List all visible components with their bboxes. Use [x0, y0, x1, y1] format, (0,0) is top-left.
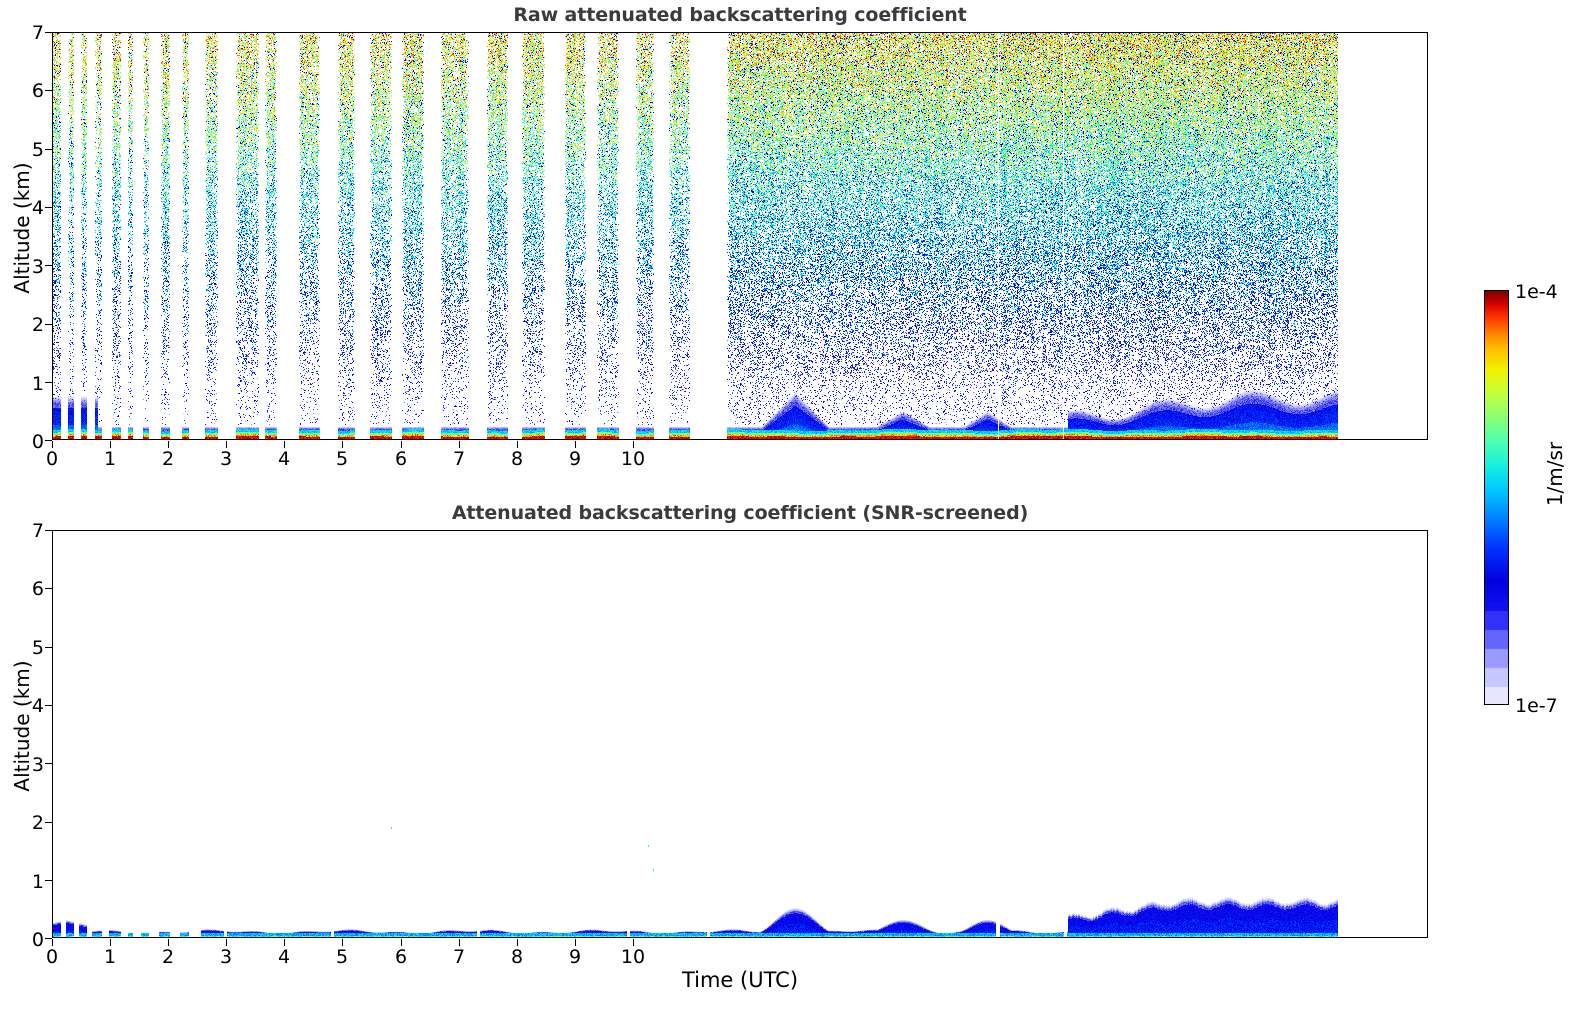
xtick-label: 7: [439, 450, 479, 469]
xtick-label: 3: [206, 948, 246, 967]
xtick-label: 5: [322, 450, 362, 469]
ytick-label: 7: [0, 24, 44, 43]
plot-area-screened: [52, 530, 1428, 938]
xtick-label: 5: [322, 948, 362, 967]
xtick-label: 2: [148, 450, 188, 469]
xtick-label: 9: [555, 948, 595, 967]
xtick-label: 7: [439, 948, 479, 967]
xtick-mark: [401, 939, 402, 946]
xtick-mark: [52, 939, 53, 946]
xtick-mark: [342, 441, 343, 448]
colorbar-tick-label-min: 1e-7: [1515, 697, 1558, 716]
xtick-mark: [633, 939, 634, 946]
xtick-label: 1: [90, 450, 130, 469]
xtick-mark: [575, 939, 576, 946]
ylabel-raw: Altitude (km): [10, 128, 34, 328]
ytick-mark: [45, 265, 52, 266]
ytick-mark: [45, 705, 52, 706]
ytick-mark: [45, 822, 52, 823]
xtick-label: 6: [381, 948, 421, 967]
colorbar: [1484, 290, 1509, 705]
xtick-label: 8: [497, 948, 537, 967]
xtick-label: 4: [264, 450, 304, 469]
ytick-label: 6: [0, 82, 44, 101]
xtick-mark: [342, 939, 343, 946]
xtick-label: 8: [497, 450, 537, 469]
ytick-mark: [45, 207, 52, 208]
figure-canvas: Raw attenuated backscattering coefficien…: [0, 0, 1595, 1020]
ytick-mark: [45, 382, 52, 383]
xtick-mark: [401, 441, 402, 448]
ytick-mark: [45, 880, 52, 881]
xtick-label: 0: [32, 450, 72, 469]
ylabel-screened: Altitude (km): [10, 626, 34, 826]
panel-title-raw: Raw attenuated backscattering coefficien…: [52, 4, 1428, 26]
ytick-label: 6: [0, 580, 44, 599]
xlabel-time: Time (UTC): [630, 968, 850, 992]
xtick-label: 10: [610, 450, 656, 469]
plot-area-raw: [52, 32, 1428, 440]
ytick-label: 7: [0, 522, 44, 541]
ytick-mark: [45, 149, 52, 150]
panel-title-screened: Attenuated backscattering coefficient (S…: [52, 502, 1428, 524]
xtick-label: 2: [148, 948, 188, 967]
xtick-mark: [168, 441, 169, 448]
ytick-mark: [45, 32, 52, 33]
xtick-mark: [226, 939, 227, 946]
ytick-label: 1: [0, 873, 44, 892]
xtick-mark: [284, 441, 285, 448]
ytick-mark: [45, 440, 52, 441]
xtick-mark: [459, 939, 460, 946]
ytick-mark: [45, 938, 52, 939]
ytick-mark: [45, 90, 52, 91]
xtick-mark: [226, 441, 227, 448]
xtick-mark: [517, 441, 518, 448]
xtick-mark: [517, 939, 518, 946]
xtick-label: 6: [381, 450, 421, 469]
ytick-mark: [45, 588, 52, 589]
xtick-mark: [52, 441, 53, 448]
xtick-label: 4: [264, 948, 304, 967]
ytick-mark: [45, 324, 52, 325]
ytick-mark: [45, 763, 52, 764]
xtick-mark: [110, 441, 111, 448]
xtick-mark: [633, 441, 634, 448]
xtick-label: 1: [90, 948, 130, 967]
ytick-mark: [45, 530, 52, 531]
ytick-label: 1: [0, 375, 44, 394]
xtick-mark: [168, 939, 169, 946]
xtick-label: 9: [555, 450, 595, 469]
ytick-mark: [45, 647, 52, 648]
colorbar-tick-label-max: 1e-4: [1515, 283, 1558, 302]
xtick-mark: [575, 441, 576, 448]
colorbar-axis-label: 1/m/sr: [1543, 409, 1567, 539]
xtick-label: 0: [32, 948, 72, 967]
xtick-label: 10: [610, 948, 656, 967]
xtick-mark: [110, 939, 111, 946]
xtick-mark: [459, 441, 460, 448]
xtick-mark: [284, 939, 285, 946]
xtick-label: 3: [206, 450, 246, 469]
